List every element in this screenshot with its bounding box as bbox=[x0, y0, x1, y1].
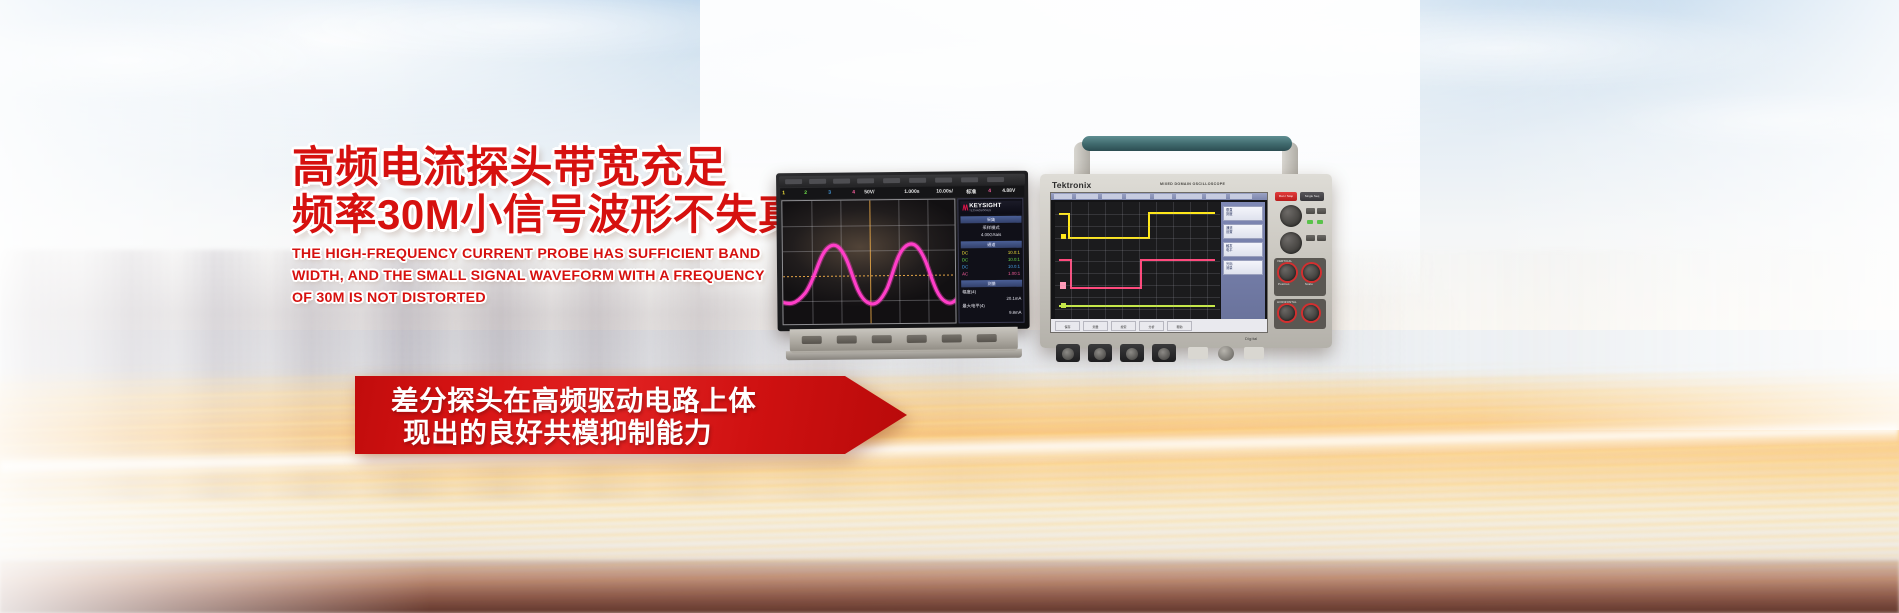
keysight-side-panel: /\/\ KEYSIGHT TECHNOLOGIES 采集 采样模式 4.00G… bbox=[957, 198, 1024, 324]
keysight-timebase: 1.000s bbox=[904, 189, 919, 195]
keysight-oscilloscope: 1 2 3 4 50V/ 1.000s 10.00s/ 标准 4 4.88V bbox=[776, 171, 1030, 364]
keysight-waveform-grid bbox=[781, 198, 956, 325]
keysight-meas-header: 测量 bbox=[961, 280, 1022, 288]
keysight-trig-level: 4.88V bbox=[1002, 188, 1015, 194]
keysight-ch1-label: 1 bbox=[782, 190, 785, 196]
tektronix-menu-item[interactable]: 光标 测量 bbox=[1223, 260, 1263, 275]
probe-comp-terminal[interactable] bbox=[1244, 347, 1264, 359]
status-led bbox=[1317, 220, 1323, 224]
tektronix-side-menu[interactable]: 垂直 刻度 通道 设置 触发 电平 光标 测量 bbox=[1221, 202, 1265, 320]
subtitle-block: THE HIGH-FREQUENCY CURRENT PROBE HAS SUF… bbox=[292, 244, 744, 309]
tektronix-bottom-button[interactable]: 帮助 bbox=[1167, 321, 1192, 331]
keysight-ch4-coupling: AC bbox=[962, 271, 968, 276]
keysight-vdiv: 50V/ bbox=[864, 189, 874, 195]
bnc-connector-1[interactable] bbox=[1056, 344, 1080, 362]
keysight-chan-row: DC 10.0:1 bbox=[962, 257, 1021, 263]
bnc-connector-4[interactable] bbox=[1152, 344, 1176, 362]
keysight-base-plate bbox=[786, 349, 1022, 360]
tektronix-waveform-grid bbox=[1055, 202, 1220, 320]
ribbon-line-1: 差分探头在高频驱动电路上体 bbox=[391, 385, 831, 417]
keysight-meas-value: 9.8mA bbox=[962, 310, 1021, 316]
tektronix-bottom-button[interactable]: 测量 bbox=[1083, 321, 1108, 331]
keysight-ch2-coupling: DC bbox=[962, 257, 968, 262]
horizontal-position-knob[interactable] bbox=[1279, 305, 1295, 321]
tektronix-menu-item[interactable]: 触发 电平 bbox=[1223, 242, 1263, 257]
bnc-connector-3[interactable] bbox=[1120, 344, 1144, 362]
bnc-connector-2[interactable] bbox=[1088, 344, 1112, 362]
keysight-ch1-coupling: DC bbox=[962, 250, 968, 255]
tektronix-brand-name: Tektronix bbox=[1052, 180, 1091, 190]
position-label: Position bbox=[1278, 282, 1290, 286]
tektronix-carry-handle bbox=[1056, 136, 1314, 170]
keysight-acq-mode: 采样模式 bbox=[962, 225, 1021, 232]
aux-bnc-connector[interactable] bbox=[1218, 346, 1234, 361]
keysight-wave-mark: /\/\ bbox=[962, 203, 967, 212]
headline-line-1: 高频电流探头带宽充足 bbox=[292, 146, 762, 191]
subtitle-line-3: OF 30M IS NOT DISTORTED bbox=[292, 288, 744, 310]
keysight-acq-rate: 4.00GSa/s bbox=[962, 232, 1021, 238]
copy-block: 高频电流探头带宽充足 频率30M小信号波形不失真 THE HIGH-FREQUE… bbox=[292, 146, 762, 309]
usb-port[interactable] bbox=[1188, 347, 1208, 359]
tektronix-oscilloscope: Tektronix MIXED DOMAIN OSCILLOSCOPE bbox=[1034, 136, 1334, 366]
keysight-chan-row: DC 10.0:1 bbox=[962, 264, 1021, 270]
tektronix-topbar bbox=[1051, 193, 1267, 200]
keysight-chan-row: AC 1.00:1 bbox=[962, 271, 1021, 277]
keysight-logo: /\/\ KEYSIGHT TECHNOLOGIES bbox=[960, 201, 1021, 215]
run-stop-button[interactable]: Run / Stop bbox=[1275, 192, 1297, 201]
keysight-ch3-atten: 10.0:1 bbox=[1008, 264, 1020, 269]
tektronix-model-label: MIXED DOMAIN OSCILLOSCOPE bbox=[1160, 182, 1225, 186]
subtitle-line-1: THE HIGH-FREQUENCY CURRENT PROBE HAS SUF… bbox=[292, 244, 744, 266]
panel-button[interactable] bbox=[1306, 208, 1315, 214]
digital-section-label: Digital bbox=[1245, 336, 1258, 341]
horizontal-scale-knob[interactable] bbox=[1303, 305, 1319, 321]
tektronix-connector-row bbox=[1056, 344, 1318, 362]
tektronix-bottom-button[interactable]: 分析 bbox=[1139, 321, 1164, 331]
panel-button[interactable] bbox=[1317, 208, 1326, 214]
tektronix-bottom-button[interactable]: 保存 bbox=[1055, 321, 1080, 331]
keysight-brand-sub: TECHNOLOGIES bbox=[969, 209, 1001, 212]
tektronix-bottom-button[interactable]: 搜索 bbox=[1111, 321, 1136, 331]
ribbon-text-block: 差分探头在高频驱动电路上体 现出的良好共模抑制能力 bbox=[391, 385, 831, 449]
tektronix-bottom-bar[interactable]: 保存 测量 搜索 分析 帮助 bbox=[1051, 319, 1267, 332]
vertical-group-label: VERTICAL bbox=[1277, 259, 1292, 263]
status-led bbox=[1307, 220, 1313, 224]
subtitle-line-2: WIDTH, AND THE SMALL SIGNAL WAVEFORM WIT… bbox=[292, 266, 744, 288]
single-seq-button[interactable]: Single Seq bbox=[1300, 192, 1324, 201]
keysight-sine-trace bbox=[782, 199, 956, 325]
tektronix-display: 垂直 刻度 通道 设置 触发 电平 光标 测量 bbox=[1050, 192, 1268, 333]
panel-button[interactable] bbox=[1306, 235, 1315, 241]
tektronix-menu-item[interactable]: 垂直 刻度 bbox=[1223, 206, 1263, 221]
vertical-position-knob[interactable] bbox=[1279, 264, 1296, 281]
keysight-meas-label: 最大电平(4) bbox=[962, 303, 1021, 310]
keysight-ch1-atten: 10.0:1 bbox=[1008, 250, 1020, 255]
keysight-meas-value: 20.1mA bbox=[962, 296, 1021, 302]
keysight-acq-header: 采集 bbox=[960, 216, 1021, 224]
background-right-fade bbox=[1479, 0, 1899, 430]
headline-line-2: 频率30M小信号波形不失真 bbox=[292, 193, 762, 237]
keysight-ch4-atten: 1.00:1 bbox=[1008, 271, 1020, 276]
keysight-bezel: 1 2 3 4 50V/ 1.000s 10.00s/ 标准 4 4.88V bbox=[776, 171, 1030, 332]
scale-label: Scale bbox=[1305, 282, 1313, 286]
promo-banner: 高频电流探头带宽充足 频率30M小信号波形不失真 THE HIGH-FREQUE… bbox=[0, 0, 1899, 613]
keysight-ch2-label: 2 bbox=[804, 190, 807, 196]
keysight-ch3-coupling: DC bbox=[962, 264, 968, 269]
keysight-samplerate: 10.00s/ bbox=[936, 188, 953, 194]
vertical-scale-knob[interactable] bbox=[1303, 264, 1320, 281]
keysight-chan-header: 通道 bbox=[961, 241, 1022, 249]
multipurpose-knob-b[interactable] bbox=[1280, 232, 1302, 254]
keysight-chan-row: DC 10.0:1 bbox=[962, 250, 1021, 256]
keysight-trig-mode: 标准 bbox=[966, 188, 976, 195]
keysight-ch3-label: 3 bbox=[828, 190, 831, 196]
keysight-meas-label: 幅度(4) bbox=[962, 289, 1021, 296]
callout-ribbon: 差分探头在高频驱动电路上体 现出的良好共模抑制能力 bbox=[355, 376, 907, 454]
keysight-ch4-label: 4 bbox=[852, 189, 855, 195]
tektronix-menu-item[interactable]: 通道 设置 bbox=[1223, 224, 1263, 239]
horizontal-group-label: HORIZONTAL bbox=[1277, 300, 1297, 304]
keysight-ch2-atten: 10.0:1 bbox=[1008, 257, 1020, 262]
ribbon-line-2: 现出的良好共模抑制能力 bbox=[391, 417, 831, 449]
panel-button[interactable] bbox=[1317, 235, 1326, 241]
keysight-trig-src: 4 bbox=[988, 188, 991, 194]
tektronix-front-panel[interactable]: Run / Stop Single Seq VERTICAL Position … bbox=[1272, 192, 1328, 333]
multipurpose-knob-a[interactable] bbox=[1280, 205, 1302, 227]
tektronix-chassis: Tektronix MIXED DOMAIN OSCILLOSCOPE bbox=[1040, 174, 1332, 348]
